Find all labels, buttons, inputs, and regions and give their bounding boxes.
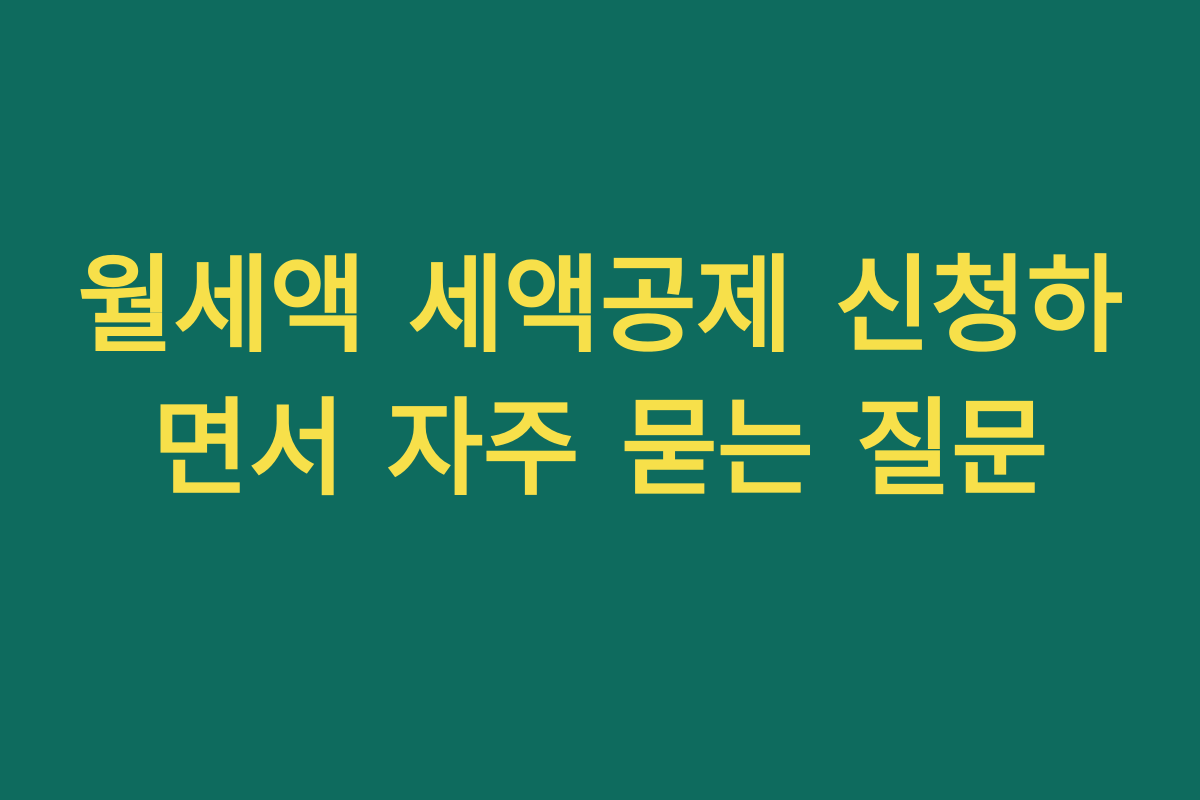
headline-text: 월세액 세액공제 신청하 면서 자주 묻는 질문 bbox=[0, 235, 1200, 521]
text-card: 월세액 세액공제 신청하 면서 자주 묻는 질문 bbox=[0, 0, 1200, 800]
